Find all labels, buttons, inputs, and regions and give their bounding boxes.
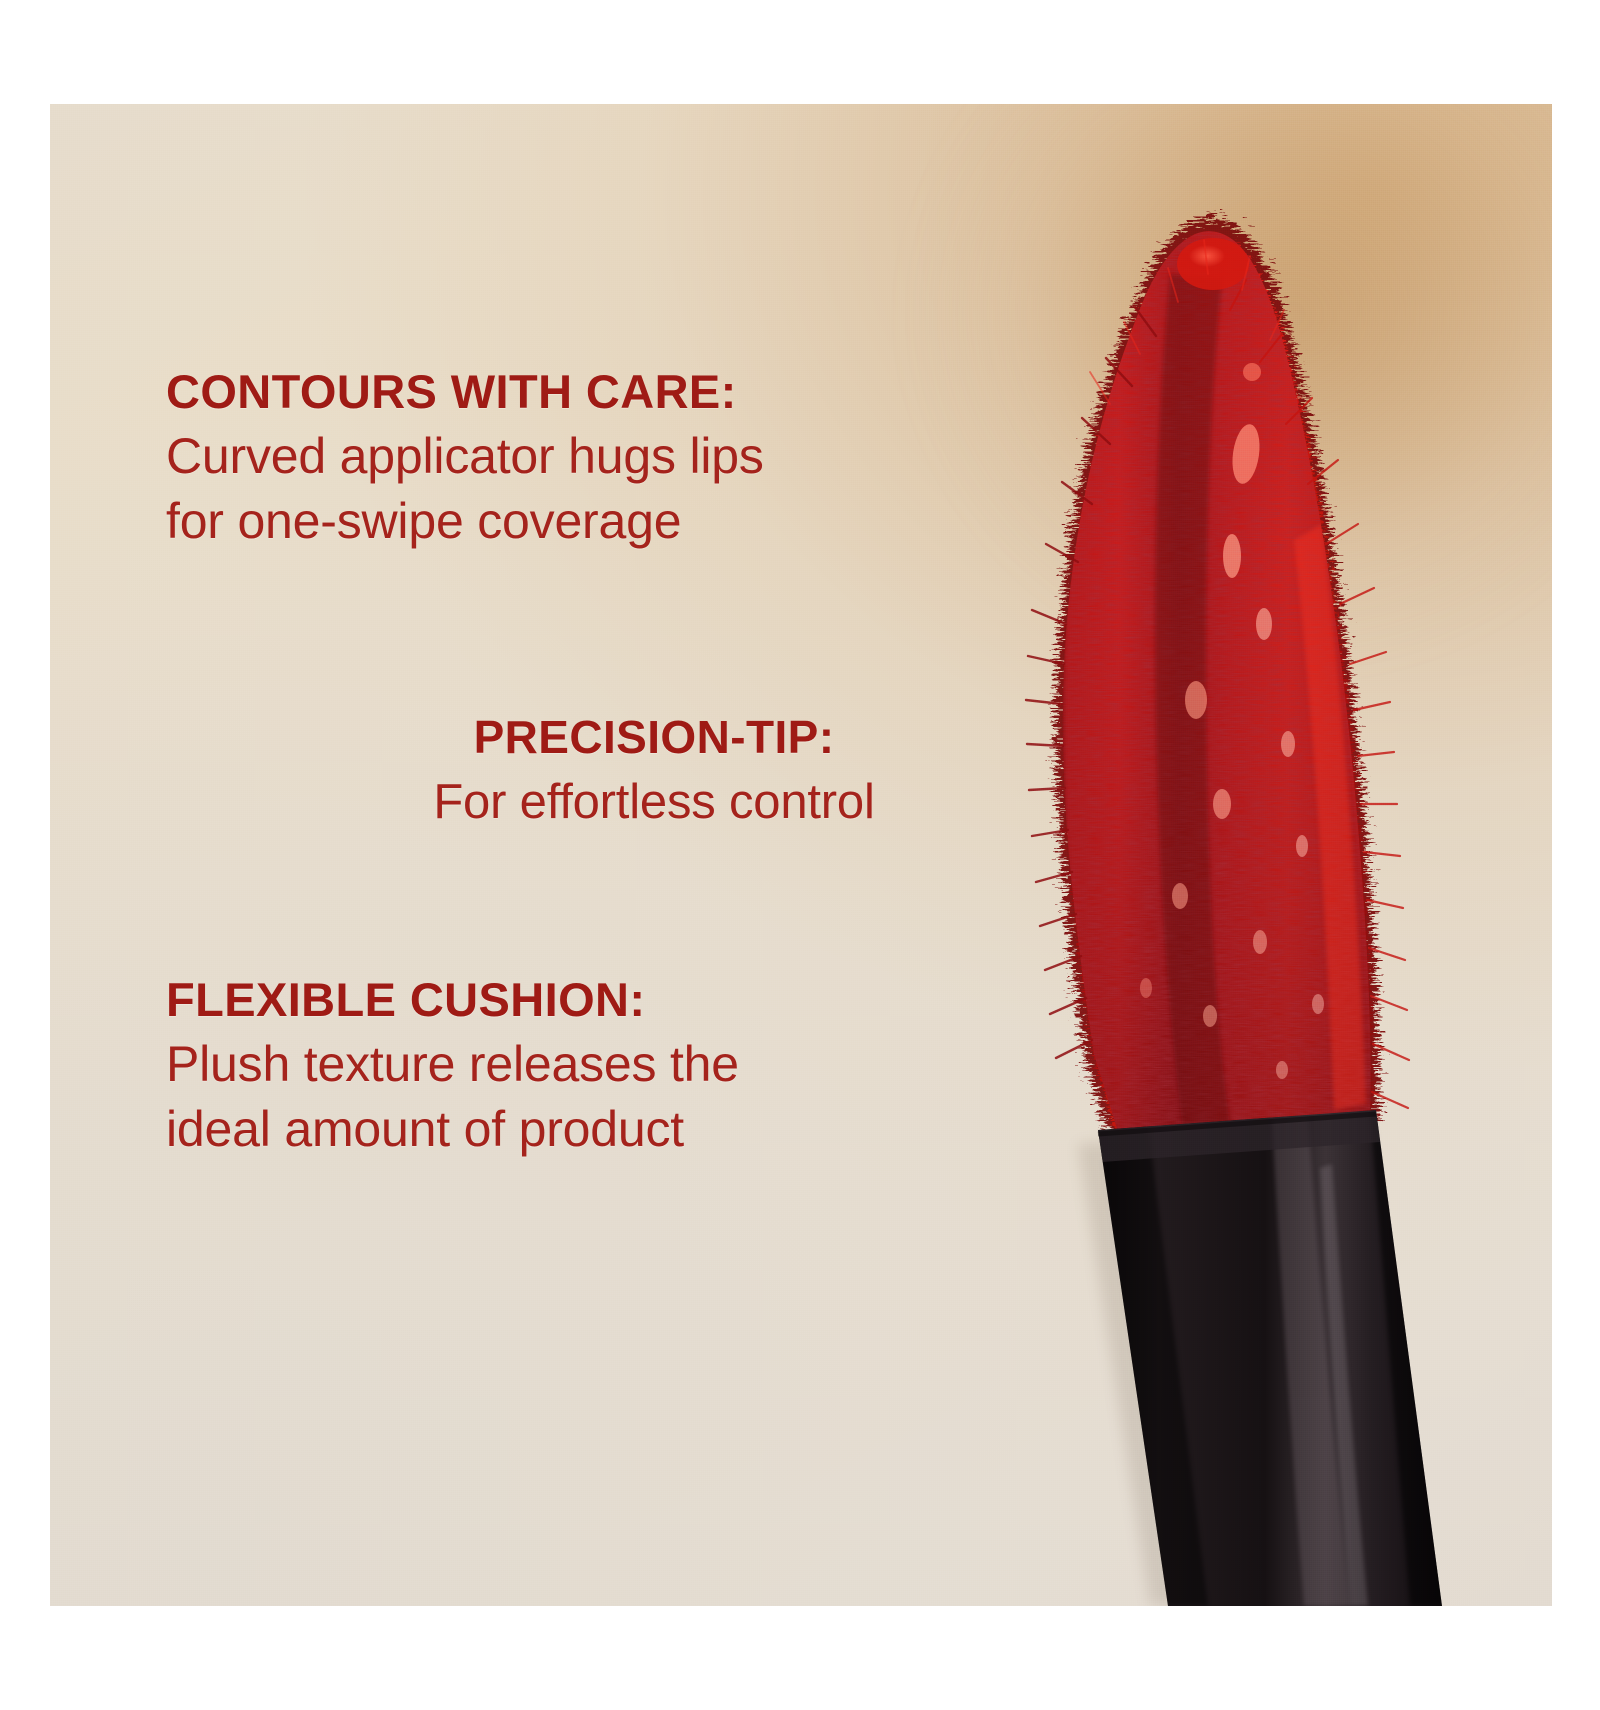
bristle-strands [1026, 306, 1156, 1058]
feature-body-line: for one-swipe coverage [166, 489, 966, 554]
feature-headline: PRECISION-TIP: [334, 714, 974, 761]
applicator-shadow [1078, 1124, 1422, 1606]
image-canvas: CONTOURS WITH CARE: Curved applicator hu… [0, 0, 1600, 1710]
feature-headline: FLEXIBLE CUSHION: [166, 976, 966, 1024]
feature-block-contours-with-care: CONTOURS WITH CARE: Curved applicator hu… [166, 368, 966, 554]
feature-text-column: CONTOURS WITH CARE: Curved applicator hu… [166, 104, 966, 1606]
product-photo-panel: CONTOURS WITH CARE: Curved applicator hu… [50, 104, 1552, 1606]
feature-body-line: ideal amount of product [166, 1097, 966, 1162]
warm-light-gradient [912, 104, 1552, 664]
applicator-handle [1090, 1094, 1470, 1606]
feature-body-line: For effortless control [334, 771, 974, 835]
feature-headline: CONTOURS WITH CARE: [166, 368, 966, 416]
gloss-highlights [1140, 363, 1324, 1079]
applicator-brush-head [1010, 204, 1430, 1164]
feature-body-line: Curved applicator hugs lips [166, 424, 966, 489]
feature-block-flexible-cushion: FLEXIBLE CUSHION: Plush texture releases… [166, 976, 966, 1162]
feature-body-line: Plush texture releases the [166, 1032, 966, 1097]
feature-block-precision-tip: PRECISION-TIP: For effortless control [334, 714, 974, 835]
